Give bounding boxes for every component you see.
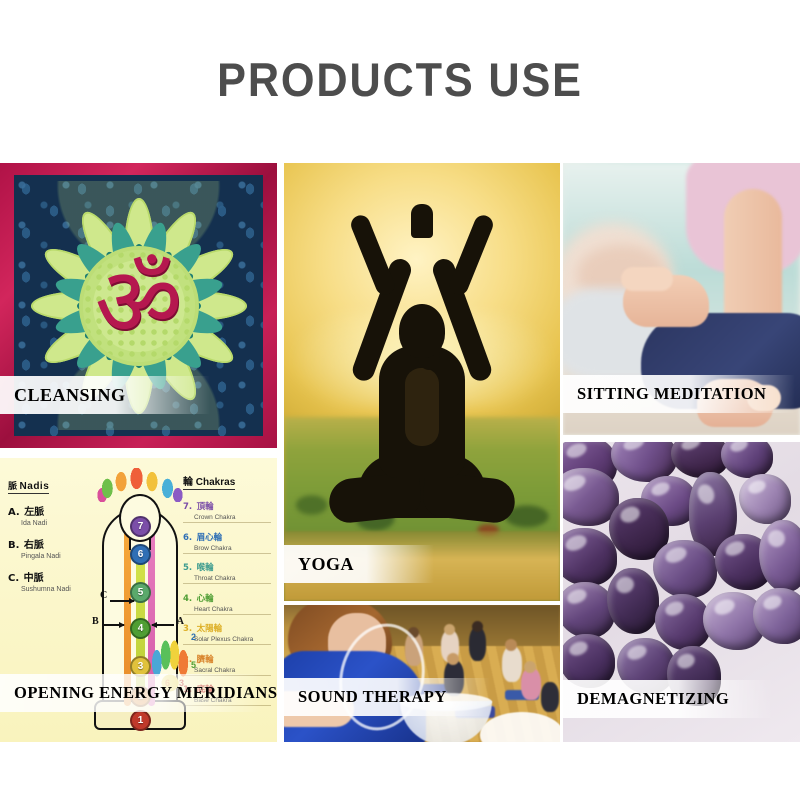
amethyst-stone <box>653 540 717 598</box>
chakras-heading: 輪 Chakras <box>183 473 235 490</box>
nadis-legend: 脈 Nadis A. 左脈 Ida Nadi B. 右脈 Pingala Nad… <box>8 476 100 601</box>
nadi-en: Sushumna Nadi <box>21 586 100 593</box>
chakra-en: Sacral Chakra <box>194 667 271 674</box>
chakra-cn: 眉心輪 <box>197 533 223 543</box>
amethyst-stone <box>607 568 659 634</box>
om-symbol-icon: ॐ <box>95 254 183 350</box>
tile-sound-therapy[interactable]: SOUND THERAPY <box>284 605 560 742</box>
participant-head <box>447 653 459 665</box>
chakra-item: 3. 太陽輪 Solar Plexus Chakra <box>183 618 271 645</box>
chakra-node-4: 4 <box>130 618 151 639</box>
chakra-cn: 臍輪 <box>197 655 214 665</box>
tile-caption-demagnetizing: DEMAGNETIZING <box>563 680 773 718</box>
chakra-node-7: 7 <box>130 516 151 537</box>
yoga-silhouette-figure <box>327 218 517 548</box>
chakra-node-1: 1 <box>130 710 151 731</box>
figure-prayer-hands <box>411 204 433 238</box>
tile-caption-cleansing: CLEANSING <box>0 376 210 414</box>
tile-caption-yoga: YOGA <box>284 545 434 583</box>
nadis-heading-cn: 脈 <box>8 482 17 492</box>
seated-participant <box>541 682 559 712</box>
seated-participant <box>502 646 522 682</box>
nadi-key: B. <box>8 540 19 551</box>
chakras-heading-en: Chakras <box>196 477 235 488</box>
marker-label-a: A <box>177 616 184 627</box>
chakra-item: 2. 臍輪 Sacral Chakra <box>183 649 271 676</box>
nadi-cn: 右脈 <box>24 540 44 551</box>
chakra-item: 7. 頂輪 Crown Chakra <box>183 496 271 523</box>
nadi-item: A. 左脈 Ida Nadi <box>8 502 100 527</box>
marker-arrow-a <box>152 624 174 626</box>
marker-label-b: B <box>92 616 99 627</box>
figure-head <box>399 304 445 358</box>
product-use-grid: ॐ CLEANSING YOG <box>0 0 800 800</box>
figure-tank-top <box>405 368 439 446</box>
tile-demagnetizing[interactable]: DEMAGNETIZING <box>563 442 800 742</box>
tile-caption-sound-therapy: SOUND THERAPY <box>284 678 490 716</box>
chakra-en: Crown Chakra <box>194 514 271 521</box>
chakra-item: 4. 心輪 Heart Chakra <box>183 588 271 615</box>
nadi-cn: 左脈 <box>24 507 44 518</box>
tile-caption-opening-energy-meridians: OPENING ENERGY MERIDIANS <box>0 674 262 712</box>
hand-number-5: 5 <box>191 660 196 670</box>
tile-yoga[interactable]: YOGA <box>284 163 560 601</box>
chakra-en: Throat Chakra <box>194 575 271 582</box>
chakra-item: 5. 喉輪 Throat Chakra <box>183 557 271 584</box>
chakra-cn: 太陽輪 <box>197 624 223 634</box>
nadis-heading: 脈 Nadis <box>8 479 49 494</box>
nadi-key: C. <box>8 573 19 584</box>
chakra-en: Brow Chakra <box>194 545 271 552</box>
nadi-en: Ida Nadi <box>21 520 100 527</box>
marker-arrow-c <box>110 600 134 602</box>
chakra-en: Solar Plexus Chakra <box>194 636 271 643</box>
marker-arrow-b <box>102 624 124 626</box>
mudra-fingers <box>621 267 673 291</box>
chakra-cn: 喉輪 <box>197 563 214 573</box>
chakra-item: 6. 眉心輪 Brow Chakra <box>183 527 271 554</box>
nadi-cn: 中脈 <box>24 573 44 584</box>
nadi-item: B. 右脈 Pingala Nadi <box>8 535 100 560</box>
tile-caption-sitting-meditation: SITTING MEDITATION <box>563 375 795 413</box>
tile-opening-energy-meridians[interactable]: 脈 Nadis A. 左脈 Ida Nadi B. 右脈 Pingala Nad… <box>0 458 277 742</box>
tile-cleansing[interactable]: ॐ CLEANSING <box>0 163 277 448</box>
chakra-cn: 心輪 <box>197 594 214 604</box>
nadi-en: Pingala Nadi <box>21 553 100 560</box>
figure-forearm-right <box>447 213 496 298</box>
chakra-cn: 頂輪 <box>197 502 214 512</box>
nadis-heading-en: Nadis <box>20 481 50 492</box>
marker-label-c: C <box>100 590 107 601</box>
nadi-item: C. 中脈 Sushumna Nadi <box>8 568 100 593</box>
hand-number-2: 2 <box>191 632 196 642</box>
chakra-node-6: 6 <box>130 544 151 565</box>
tile-sitting-meditation[interactable]: SITTING MEDITATION <box>563 163 800 435</box>
amethyst-stone <box>739 474 791 524</box>
figure-forearm-left <box>348 213 397 298</box>
chakra-en: Heart Chakra <box>194 606 271 613</box>
nadi-key: A. <box>8 507 20 518</box>
participant-head <box>505 639 517 651</box>
